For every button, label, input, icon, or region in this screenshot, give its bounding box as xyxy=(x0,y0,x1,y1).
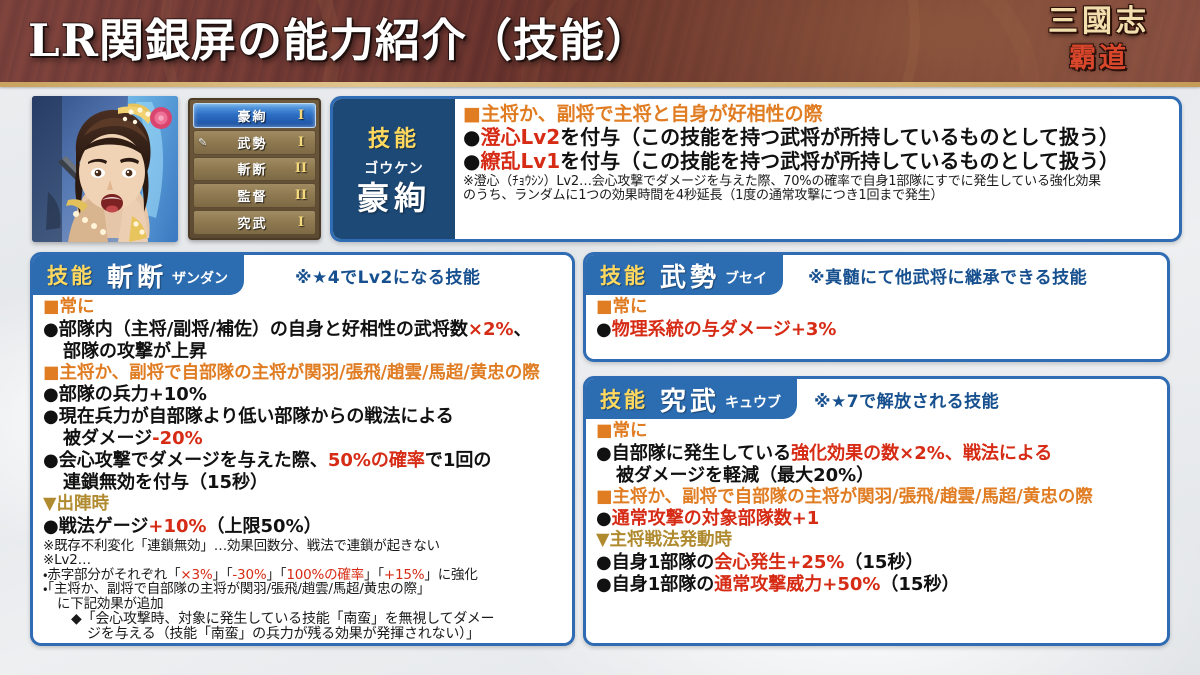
skill-kind-label: 技能 xyxy=(368,121,420,153)
effect-line: ●澄心Lv2を付与（この技能を持つ武将が所持しているものとして扱う） xyxy=(463,127,1173,147)
effect-line-cont: 被ダメージを軽減（最大20%） xyxy=(596,467,1159,485)
effect-line: ●自部隊に発生している強化効果の数×2%、戦法による xyxy=(596,445,1159,463)
skill-card-kyuubu: 技能 究武 キュウブ ※★7で解放される技能 ■常に ●自部隊に発生している強化… xyxy=(583,376,1170,646)
skill-name-label: 究武 xyxy=(660,381,720,418)
skill-unlock-note: ※★7で解放される技能 xyxy=(814,379,999,419)
effect-line: ●繚乱Lv1を付与（この技能を持つ武将が所持しているものとして扱う） xyxy=(463,151,1173,171)
inherit-icon: ✎ xyxy=(198,137,214,148)
skill-name-label: 武勢 xyxy=(660,257,720,294)
skill-level-badge: I xyxy=(291,135,311,150)
skill-list-item-label: 豪絢 xyxy=(214,106,291,125)
skill-card-tab-busei: 技能 武勢 ブセイ xyxy=(586,255,783,295)
effect-line: ●部隊の兵力+10% xyxy=(43,386,564,404)
effect-line: ●部隊内（主将/副将/補佐）の自身と好相性の武将数×2%、 xyxy=(43,321,564,339)
game-logo-sub: 霸道 xyxy=(1014,42,1184,76)
effect-line-cont: 連鎖無効を付与（15秒） xyxy=(43,474,564,492)
condition-heading: ■主将か、副将で自部隊の主将が関羽/張飛/趙雲/馬超/黄忠の際 xyxy=(596,489,1159,507)
skill-inherit-note: ※真髄にて他武将に継承できる技能 xyxy=(808,255,1087,295)
skill-card-tab-kyuubu: 技能 究武 キュウブ xyxy=(586,379,797,419)
skill-list-item-zandan[interactable]: 斬断 II xyxy=(193,157,316,182)
effect-line-cont: 被ダメージ-20% xyxy=(43,430,564,448)
slide-root: LR関銀屏の能力紹介（技能） 三國志 霸道 xyxy=(0,0,1200,675)
skill-card-body-busei: ■常に ●物理系統の与ダメージ+3% xyxy=(596,299,1159,343)
skill-card-body-gouken: ■主将か、副将で主将と自身が好相性の際 ●澄心Lv2を付与（この技能を持つ武将が… xyxy=(463,105,1173,203)
footnote-line: ・「主将か、副将で自部隊の主将が関羽/張飛/趙雲/馬超/黄忠の際」 xyxy=(43,583,564,597)
effect-line: ●物理系統の与ダメージ+3% xyxy=(596,321,1159,339)
footnote-line: ◆「会心攻撃時、対象に発生している技能「南蛮」を無視してダメー xyxy=(43,612,564,626)
skill-kind-label: 技能 xyxy=(600,384,648,414)
skill-list-item-kyuubu[interactable]: 究武 I xyxy=(193,210,316,235)
skill-list-item-gouken[interactable]: 豪絢 I xyxy=(193,103,316,128)
skill-level-badge: I xyxy=(291,108,311,123)
skill-card-tab-zandan: 技能 斬断 ザンダン xyxy=(33,255,244,295)
effect-line: ●会心攻撃でダメージを与えた際、50%の確率で1回の xyxy=(43,452,564,470)
skill-kana-label: ザンダン xyxy=(172,268,228,288)
skill-list-item-label: 監督 xyxy=(214,186,291,205)
skill-card-busei: 技能 武勢 ブセイ ※真髄にて他武将に継承できる技能 ■常に ●物理系統の与ダメ… xyxy=(583,252,1170,362)
character-portrait xyxy=(32,96,178,242)
skill-kana-label: ゴウケン xyxy=(364,158,424,178)
condition-heading: ■主将か、副将で自部隊の主将が関羽/張飛/趙雲/馬超/黄忠の際 xyxy=(43,365,564,383)
skill-card-body-zandan: ■常に ●部隊内（主将/副将/補佐）の自身と好相性の武将数×2%、 部隊の攻撃が… xyxy=(43,299,564,642)
trigger-heading: ▼出陣時 xyxy=(43,496,564,514)
skill-kind-label: 技能 xyxy=(47,260,95,290)
condition-heading: ■主将か、副将で主将と自身が好相性の際 xyxy=(463,105,1173,124)
effect-line: ●現在兵力が自部隊より低い部隊からの戦法による xyxy=(43,408,564,426)
skill-list-item-kantoku[interactable]: 監督 II xyxy=(193,183,316,208)
trigger-heading: ▼主将戦法発動時 xyxy=(596,532,1159,550)
game-logo: 三國志 霸道 xyxy=(1014,2,1184,88)
page-title: LR関銀屏の能力紹介（技能） xyxy=(28,7,651,75)
skill-card-zandan: 技能 斬断 ザンダン ※★4でLv2になる技能 ■常に ●部隊内（主将/副将/補… xyxy=(30,252,575,646)
skill-list-item-label: 武勢 xyxy=(214,133,291,152)
skill-list-item-busei[interactable]: ✎ 武勢 I xyxy=(193,130,316,155)
skill-kana-label: キュウブ xyxy=(725,392,781,412)
skill-level-badge: I xyxy=(291,215,311,230)
footnote-line: に下記効果が追加 xyxy=(43,598,564,612)
skill-list-panel[interactable]: 豪絢 I ✎ 武勢 I 斬断 II 監督 II 究武 I xyxy=(188,98,321,240)
footnote-line: ※Lv2… xyxy=(43,554,564,568)
effect-line: ●自身1部隊の通常攻撃威力+50%（15秒） xyxy=(596,576,1159,594)
game-logo-main: 三國志 xyxy=(1014,2,1184,42)
effect-line-cont: 部隊の攻撃が上昇 xyxy=(43,343,564,361)
effect-line: ●通常攻撃の対象部隊数+1 xyxy=(596,510,1159,528)
footnote-line: ジを与える（技能「南蛮」の兵力が残る効果が発揮されない）」 xyxy=(43,627,564,641)
skill-name-label: 豪絢 xyxy=(357,179,431,217)
condition-heading: ■常に xyxy=(596,423,1159,441)
skill-kana-label: ブセイ xyxy=(725,268,767,288)
skill-name-label: 斬断 xyxy=(107,257,167,294)
condition-heading: ■常に xyxy=(596,299,1159,317)
skill-kind-label: 技能 xyxy=(600,260,648,290)
footnote-line: ※既存不利変化「連鎖無効」…効果回数分、戦法で連鎖が起きない xyxy=(43,540,564,554)
skill-card-gouken: 技能 ゴウケン 豪絢 ■主将か、副将で主将と自身が好相性の際 ●澄心Lv2を付与… xyxy=(330,96,1182,242)
footnote-line: のうち、ランダムに1つの効果時間を4秒延長（1度の通常攻撃につき1回まで発生） xyxy=(463,189,1173,202)
skill-level-badge: II xyxy=(291,161,311,176)
skill-list-item-label: 斬断 xyxy=(214,159,291,178)
footnote-line: ・赤字部分がそれぞれ「×3%」「-30%」「100%の確率」「+15%」に強化 xyxy=(43,569,564,583)
skill-card-label-gouken: 技能 ゴウケン 豪絢 xyxy=(333,99,455,239)
effect-line: ●自身1部隊の会心発生+25%（15秒） xyxy=(596,554,1159,572)
effect-line: ●戦法ゲージ+10%（上限50%） xyxy=(43,518,564,536)
condition-heading: ■常に xyxy=(43,299,564,317)
skill-card-body-kyuubu: ■常に ●自部隊に発生している強化効果の数×2%、戦法による 被ダメージを軽減（… xyxy=(596,423,1159,598)
skill-list-item-label: 究武 xyxy=(214,213,291,232)
skill-level-badge: II xyxy=(291,188,311,203)
skill-unlock-note: ※★4でLv2になる技能 xyxy=(295,255,480,295)
footnote-line: ※澄心（ﾁｮｳｼﾝ）Lv2…会心攻撃でダメージを与えた際、70%の確率で自身1部… xyxy=(463,175,1173,188)
